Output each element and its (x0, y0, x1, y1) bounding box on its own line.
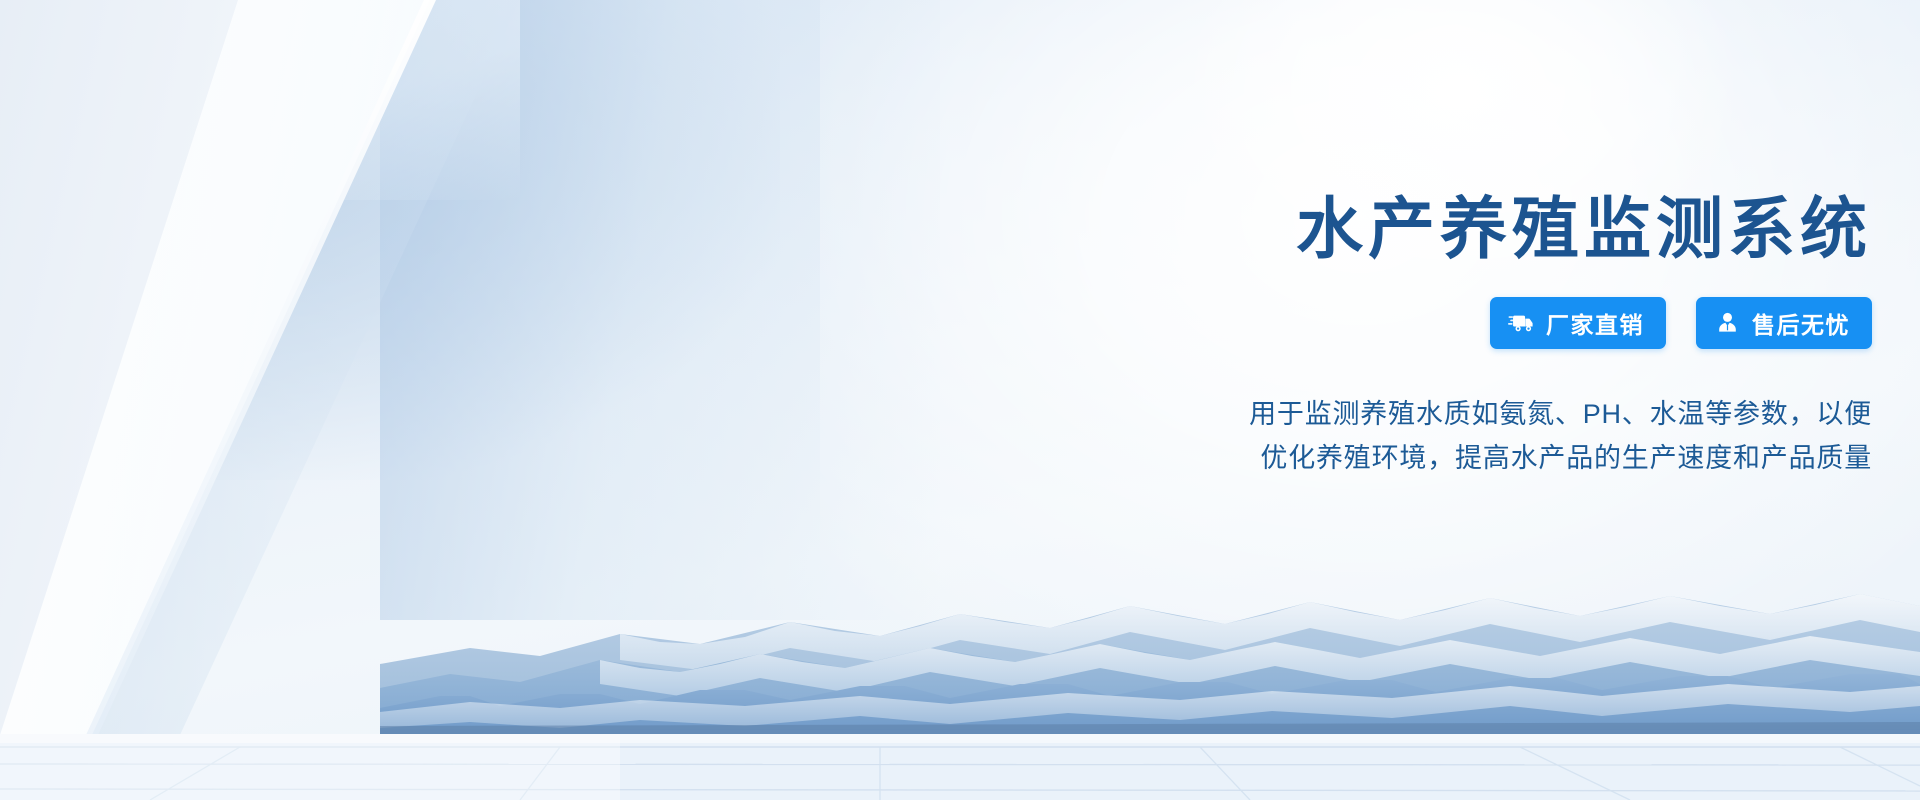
badge-factory-direct[interactable]: 厂家直销 (1490, 297, 1666, 349)
badge-row: 厂家直销 售后无忧 (1490, 297, 1872, 349)
truck-icon (1508, 311, 1535, 335)
hero-banner: 水产养殖监测系统 厂家直销 (0, 0, 1920, 800)
customer-service-icon (1714, 311, 1741, 335)
hero-content: 水产养殖监测系统 厂家直销 (852, 0, 1872, 800)
badge-label: 厂家直销 (1546, 306, 1644, 340)
description-line-1: 用于监测养殖水质如氨氮、PH、水温等参数，以便 (1249, 393, 1872, 437)
description-line-2: 优化养殖环境，提高水产品的生产速度和产品质量 (1249, 437, 1872, 481)
hero-description: 用于监测养殖水质如氨氮、PH、水温等参数，以便 优化养殖环境，提高水产品的生产速… (1249, 393, 1872, 480)
badge-after-sales[interactable]: 售后无忧 (1696, 297, 1872, 349)
badge-label: 售后无忧 (1752, 306, 1850, 340)
page-title: 水产养殖监测系统 (1296, 196, 1872, 263)
